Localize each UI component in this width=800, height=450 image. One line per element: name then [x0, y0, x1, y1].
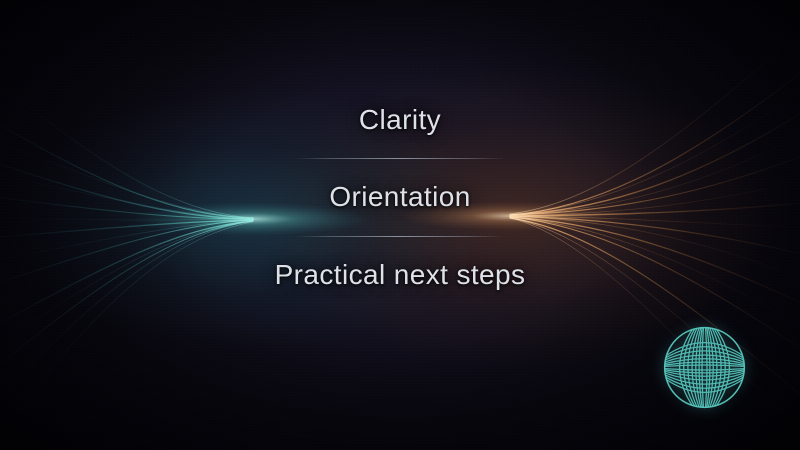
slide-line-orientation: Orientation: [329, 181, 470, 212]
slide-line-practical-next-steps: Practical next steps: [275, 259, 526, 290]
concentric-arc-circle-logo: [663, 326, 746, 409]
divider-1: [296, 158, 504, 159]
slide-line-clarity: Clarity: [359, 104, 441, 135]
presentation-slide: Clarity Orientation Practical next steps: [0, 0, 800, 450]
slide-text-block: Clarity Orientation Practical next steps: [0, 104, 800, 290]
divider-2: [296, 236, 504, 237]
